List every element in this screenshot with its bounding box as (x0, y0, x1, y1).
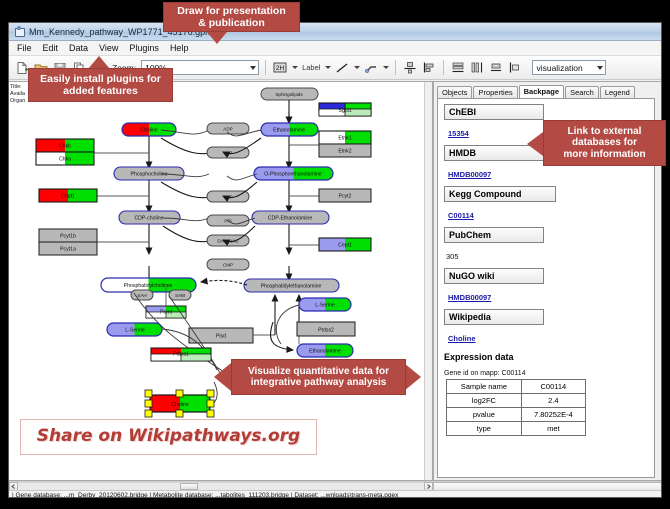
viz-callout-right-arrow-icon (404, 363, 421, 391)
menu-item-edit[interactable]: Edit (41, 42, 61, 54)
window-titlebar: Mm_Kennedy_pathway_WP1771_45176.gpml (9, 23, 661, 41)
viz-callout-left-arrow-icon (214, 363, 231, 391)
scroll-thumb[interactable] (180, 483, 198, 490)
chevron-down-icon (250, 66, 256, 70)
table-cell-value: 7.80252E-4 (521, 408, 585, 422)
backpage-value-pubchem: 305 (446, 252, 459, 261)
datanode-dropdown-caret-icon[interactable] (291, 61, 298, 75)
node-cmp-label: CMP (223, 263, 233, 268)
node-phosphatidylcholines-label: Phosphatidylcholines (124, 283, 173, 289)
node-cept1-label: Cept1 (338, 243, 352, 249)
callout-draw-line1: Draw for presentation (177, 5, 286, 17)
align-left-icon[interactable] (421, 60, 437, 76)
label-tool-label[interactable]: Label (301, 63, 321, 72)
node-l-serine-left-label: L-Serine (125, 328, 145, 334)
callout-draw: Draw for presentation & publication (163, 2, 300, 32)
callout-link-line3: more information (563, 149, 645, 160)
node-o-phosphoethanolamine-label: O-Phosphoethanolamine (264, 172, 322, 178)
menu-item-file[interactable]: File (15, 42, 34, 54)
menubar: File Edit Data View Plugins Help (9, 41, 661, 56)
group-icon[interactable] (488, 60, 504, 76)
node-choline-selected-label: Choline (171, 402, 189, 408)
backpage-header-kegg: Kegg Compound (444, 186, 556, 202)
chevron-down-icon (597, 66, 603, 70)
tab-search[interactable]: Search (565, 86, 599, 98)
menu-item-view[interactable]: View (97, 42, 120, 54)
node-ethanolamine-label: Ethanolamine (273, 128, 305, 134)
node-phosphatidylethanolamine-label: Phosphatidylethanolamine (261, 284, 322, 290)
callout-visualize: Visualize quantitative data for integrat… (231, 359, 406, 395)
horizontal-scrollbar[interactable] (9, 481, 662, 490)
callout-share: Share on Wikipathways.org (20, 419, 317, 455)
toolbar-separator (395, 60, 396, 75)
node-chpt1-label: Chpt1 (61, 194, 75, 200)
line-tool-icon[interactable] (334, 60, 350, 76)
node-pcyt1b-label: Pcyt1b (60, 234, 76, 240)
table-cell-value: C00114 (521, 380, 585, 394)
toolbar-separator (443, 60, 444, 75)
backpage-link-hmdb[interactable]: HMDB00097 (448, 170, 491, 179)
pathvisio-app-icon (14, 26, 25, 37)
node-ptdss2-label: Ptdss2 (318, 328, 334, 334)
screenshot-root: Mm_Kennedy_pathway_WP1771_45176.gpml Fil… (0, 0, 670, 509)
node-cdp-ethanolamine-label: CDP-Ethanolamine (268, 216, 313, 222)
backpage-header-nugo: NuGO wiki (444, 268, 544, 284)
table-row: log2FC 2.4 (447, 394, 586, 408)
node-sgpl1-label: Sgpl1 (338, 108, 351, 114)
table-cell-label: pvalue (447, 408, 522, 422)
backpage-link-kegg[interactable]: C00114 (448, 211, 474, 220)
align-top-icon[interactable] (402, 60, 418, 76)
table-cell-label: Sample name (447, 380, 522, 394)
node-pisd-label: Pisd (216, 334, 226, 340)
callout-viz-line2: integrative pathway analysis (251, 377, 387, 388)
label-dropdown-caret-icon[interactable] (324, 61, 331, 75)
table-cell-value: met (521, 422, 585, 436)
node-pcyt2-label: Pcyt2 (339, 194, 352, 200)
node-choline-label: Choline (140, 128, 158, 134)
menu-item-help[interactable]: Help (168, 42, 191, 54)
callout-plugins-line1: Easily install plugins for (40, 73, 161, 85)
table-row: Sample name C00114 (447, 380, 586, 394)
visualization-combo-value: visualization (536, 63, 582, 73)
side-panel-tabs: Objects Properties Backpage Search Legen… (437, 84, 636, 98)
statusbar-text: | Gene database: ...m_Derby_20120602.bri… (12, 492, 398, 499)
expression-data-table: Sample name C00114 log2FC 2.4 pvalue 7.8… (446, 379, 586, 436)
ungroup-icon[interactable] (507, 60, 523, 76)
table-cell-value: 2.4 (521, 394, 585, 408)
backpage-link-nugo[interactable]: HMDB00097 (448, 293, 491, 302)
menu-item-plugins[interactable]: Plugins (127, 42, 161, 54)
backpage-link-chebi[interactable]: 15354 (448, 129, 469, 138)
node-phosphocholine-label: Phosphocholine (131, 172, 168, 178)
table-row: pvalue 7.80252E-4 (447, 408, 586, 422)
statusbar: | Gene database: ...m_Derby_20120602.bri… (9, 490, 662, 498)
tab-backpage[interactable]: Backpage (519, 85, 564, 98)
interaction-tool-icon[interactable] (363, 60, 379, 76)
node-adp-label: ADP (223, 127, 232, 132)
node-etnk2-label: Etnk2 (338, 149, 351, 155)
interaction-dropdown-caret-icon[interactable] (382, 61, 389, 75)
stack-vertical-icon[interactable] (450, 60, 466, 76)
node-pcyt1a-label: Pcyt1a (60, 247, 76, 253)
expression-data-title: Expression data (444, 352, 648, 362)
gene-id-line: Gene id on mapp: C00114 (444, 370, 648, 377)
node-sphingolipids-label: Sphingolipids (275, 92, 303, 97)
node-etnk1-label: Etnk1 (338, 136, 351, 142)
node-pemt-label: Pemt (160, 310, 173, 316)
callout-viz-line1: Visualize quantitative data for (248, 366, 389, 377)
table-cell-label: log2FC (447, 394, 522, 408)
node-ethanolamine-bottom-label: Ethanolamine (309, 349, 341, 355)
callout-plugins-line2: added features (63, 85, 138, 97)
node-sah-label: SAH (137, 293, 146, 298)
tab-legend[interactable]: Legend (600, 86, 635, 98)
datanode-icon[interactable]: 2H (272, 60, 288, 76)
backpage-link-wikipedia[interactable]: Choline (448, 334, 476, 343)
table-row: type met (447, 422, 586, 436)
node-l-serine-right-label: L-Serine (315, 303, 335, 309)
callout-draw-line2: & publication (198, 17, 265, 29)
draw-callout-arrow-icon (207, 32, 227, 44)
node-sam-label: SAM (175, 293, 185, 298)
canvas-vertical-scrollbar[interactable] (424, 82, 432, 480)
node-chka-label: Chka (59, 157, 71, 163)
node-ptdss1-label: Ptdss1 (173, 352, 189, 358)
line-dropdown-caret-icon[interactable] (353, 61, 360, 75)
backpage-header-pubchem: PubChem (444, 227, 544, 243)
toolbar-separator (265, 60, 266, 75)
backpage-header-chebi: ChEBI (444, 104, 544, 120)
table-cell-label: type (447, 422, 522, 436)
callout-link-line1: Link to external (568, 126, 642, 137)
tab-objects[interactable]: Objects (437, 86, 472, 98)
align-width-icon[interactable] (469, 60, 485, 76)
callout-share-text: Share on Wikipathways.org (31, 425, 306, 449)
node-cdp-choline-label: CDP-choline (134, 216, 163, 222)
backpage-header-wikipedia: Wikipedia (444, 309, 544, 325)
menu-item-data[interactable]: Data (67, 42, 90, 54)
node-chkb-label: Chkb (59, 144, 71, 150)
svg-text:2H: 2H (276, 65, 285, 72)
visualization-combo[interactable]: visualization (532, 60, 606, 75)
callout-link: Link to external databases for more info… (543, 120, 666, 166)
callout-link-line2: databases for (572, 137, 637, 148)
tab-properties[interactable]: Properties (473, 86, 517, 98)
callout-plugins: Easily install plugins for added feature… (28, 68, 173, 102)
